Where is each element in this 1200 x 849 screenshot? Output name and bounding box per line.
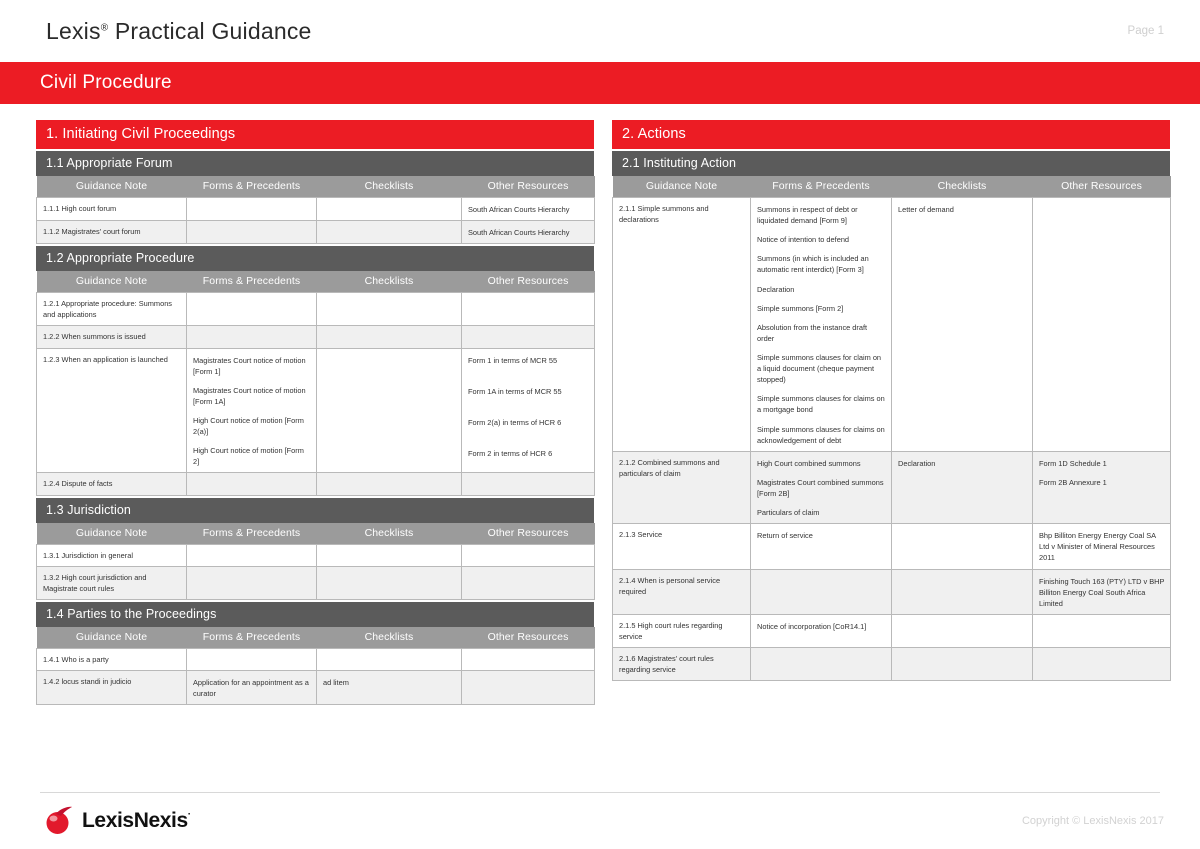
page-number: Page 1 [1128, 25, 1164, 37]
cell-other-resources[interactable] [462, 326, 595, 348]
cell-forms-precedents[interactable] [187, 566, 317, 599]
guidance-table: Guidance NoteForms & PrecedentsChecklist… [36, 627, 595, 705]
forms-precedents-item[interactable]: Absolution from the instance draft order [757, 322, 886, 344]
page-header: Lexis® Practical Guidance Page 1 [0, 0, 1200, 62]
cell-other-resources[interactable] [462, 293, 595, 326]
cell-other-resources[interactable] [462, 566, 595, 599]
forms-precedents-item[interactable]: Magistrates Court notice of motion [Form… [193, 355, 311, 377]
column-header-guidance-note: Guidance Note [37, 271, 187, 293]
other-resources-item[interactable]: Form 1 in terms of MCR 55 [468, 355, 589, 366]
subsection-title: 1.4 Parties to the Proceedings [36, 602, 594, 627]
forms-precedents-cell-content: Summons in respect of debt or liquidated… [757, 204, 886, 446]
other-resources-item[interactable]: Form 2B Annexure 1 [1039, 477, 1165, 488]
column-header-forms-precedents: Forms & Precedents [187, 271, 317, 293]
cell-forms-precedents[interactable] [187, 293, 317, 326]
document-title-bar: Civil Procedure [0, 62, 1200, 104]
cell-forms-precedents[interactable]: Return of service [751, 524, 892, 569]
cell-guidance-note[interactable]: 2.1.4 When is personal service required [613, 569, 751, 614]
column-header-guidance-note: Guidance Note [37, 176, 187, 198]
forms-precedents-cell-content: Return of service [757, 530, 886, 541]
cell-other-resources[interactable] [462, 670, 595, 704]
column-header-other-resources: Other Resources [462, 627, 595, 649]
forms-precedents-cell-content: High Court combined summonsMagistrates C… [757, 458, 886, 518]
other-resources-cell-content: Form 1D Schedule 1Form 2B Annexure 1 [1039, 458, 1165, 488]
cell-checklists[interactable] [317, 293, 462, 326]
other-resources-cell-content: Finishing Touch 163 (PTY) LTD v BHP Bill… [1039, 576, 1165, 609]
cell-guidance-note[interactable]: 1.2.3 When an application is launched [37, 348, 187, 473]
column-right: 2. Actions2.1 Instituting ActionGuidance… [612, 120, 1170, 681]
cell-checklists[interactable] [317, 566, 462, 599]
column-header-guidance-note: Guidance Note [37, 523, 187, 545]
cell-checklists[interactable] [317, 473, 462, 495]
subsection-title: 1.1 Appropriate Forum [36, 151, 594, 176]
forms-precedents-cell-content: Application for an appointment as a cura… [193, 677, 311, 699]
cell-forms-precedents[interactable] [187, 221, 317, 244]
table-row[interactable]: 2.1.4 When is personal service requiredF… [613, 569, 1171, 614]
cell-guidance-note[interactable]: 2.1.3 Service [613, 524, 751, 569]
guidance-note-link[interactable]: 1.2.3 When an application is launched [43, 355, 168, 364]
column-header-checklists: Checklists [317, 176, 462, 198]
column-header-forms-precedents: Forms & Precedents [187, 523, 317, 545]
forms-precedents-item[interactable]: Simple summons clauses for claims on a m… [757, 393, 886, 415]
other-resources-item[interactable]: South African Courts Hierarchy [468, 204, 589, 215]
forms-precedents-item[interactable]: Summons (in which is included an automat… [757, 253, 886, 275]
logo-trademark: · [188, 809, 191, 820]
cell-other-resources[interactable]: South African Courts Hierarchy [462, 221, 595, 244]
lexisnexis-logo: LexisNexis· [44, 806, 191, 836]
cell-forms-precedents[interactable] [187, 544, 317, 566]
lexisnexis-mark-icon [44, 806, 74, 836]
table-row[interactable]: 2.1.3 ServiceReturn of serviceBhp Billit… [613, 524, 1171, 569]
subsection-title: 1.3 Jurisdiction [36, 498, 594, 523]
checklists-cell-content: ad litem [323, 677, 456, 688]
lexisnexis-wordmark: LexisNexis· [82, 809, 191, 833]
cell-forms-precedents[interactable] [751, 569, 892, 614]
cell-checklists[interactable] [317, 544, 462, 566]
subsection: 1.2 Appropriate ProcedureGuidance NoteFo… [36, 246, 594, 495]
guidance-note-link[interactable]: 1.2.1 Appropriate procedure: Summons and… [43, 299, 172, 319]
cell-forms-precedents[interactable]: Magistrates Court notice of motion [Form… [187, 348, 317, 473]
forms-precedents-cell-content: Notice of incorporation [CoR14.1] [757, 621, 886, 632]
cell-forms-precedents[interactable]: Application for an appointment as a cura… [187, 670, 317, 704]
cell-guidance-note[interactable]: 2.1.5 High court rules regarding service [613, 614, 751, 647]
column-header-guidance-note: Guidance Note [37, 627, 187, 649]
cell-checklists[interactable] [892, 569, 1033, 614]
forms-precedents-item[interactable]: High Court combined summons [757, 458, 886, 469]
checklists-cell-content: Letter of demand [898, 204, 1027, 215]
column-header-forms-precedents: Forms & Precedents [187, 176, 317, 198]
column-header-other-resources: Other Resources [462, 523, 595, 545]
table-row[interactable]: 1.2.4 Dispute of facts [37, 473, 595, 495]
subsection: 1.3 JurisdictionGuidance NoteForms & Pre… [36, 498, 594, 600]
guidance-table: Guidance NoteForms & PrecedentsChecklist… [36, 271, 595, 495]
cell-other-resources[interactable]: Bhp Billiton Energy Energy Coal SA Ltd v… [1033, 524, 1171, 569]
guidance-note-link[interactable]: 1.4.1 Who is a party [43, 655, 109, 664]
forms-precedents-item[interactable]: High Court notice of motion [Form 2] [193, 445, 311, 467]
cell-checklists[interactable] [892, 524, 1033, 569]
cell-checklists[interactable] [317, 326, 462, 348]
guidance-note-link[interactable]: 1.3.2 High court jurisdiction and Magist… [43, 573, 147, 593]
forms-precedents-item[interactable]: Particulars of claim [757, 507, 886, 518]
guidance-note-link[interactable]: 2.1.6 Magistrates' court rules regarding… [619, 654, 714, 674]
cell-checklists[interactable]: Declaration [892, 451, 1033, 523]
table-row[interactable]: 1.3.2 High court jurisdiction and Magist… [37, 566, 595, 599]
cell-guidance-note[interactable]: 1.2.1 Appropriate procedure: Summons and… [37, 293, 187, 326]
guidance-table: Guidance NoteForms & PrecedentsChecklist… [36, 523, 595, 600]
guidance-note-link[interactable]: 2.1.5 High court rules regarding service [619, 621, 723, 641]
cell-forms-precedents[interactable]: Summons in respect of debt or liquidated… [751, 198, 892, 452]
table-row[interactable]: 1.2.3 When an application is launchedMag… [37, 348, 595, 473]
cell-forms-precedents[interactable]: Notice of incorporation [CoR14.1] [751, 614, 892, 647]
subsection: 1.4 Parties to the ProceedingsGuidance N… [36, 602, 594, 705]
cell-guidance-note[interactable]: 1.1.2 Magistrates' court forum [37, 221, 187, 244]
cell-checklists[interactable]: ad litem [317, 670, 462, 704]
column-header-checklists: Checklists [317, 627, 462, 649]
table-header-row: Guidance NoteForms & PrecedentsChecklist… [37, 271, 595, 293]
cell-checklists[interactable] [892, 614, 1033, 647]
guidance-note-link[interactable]: 2.1.3 Service [619, 530, 662, 539]
subsection-title: 2.1 Instituting Action [612, 151, 1170, 176]
column-header-guidance-note: Guidance Note [613, 176, 751, 198]
forms-precedents-item[interactable]: Magistrates Court combined summons [Form… [757, 477, 886, 499]
section-title-right: 2. Actions [612, 120, 1170, 149]
other-resources-item[interactable]: Form 2 in terms of HCR 6 [468, 448, 589, 459]
guidance-note-link[interactable]: 1.1.2 Magistrates' court forum [43, 227, 141, 236]
forms-precedents-item[interactable]: Notice of intention to defend [757, 234, 886, 245]
column-header-other-resources: Other Resources [462, 271, 595, 293]
cell-other-resources[interactable] [462, 648, 595, 670]
cell-guidance-note[interactable]: 2.1.1 Simple summons and declarations [613, 198, 751, 452]
forms-precedents-item[interactable]: Simple summons clauses for claim on a li… [757, 352, 886, 385]
forms-precedents-item[interactable]: Application for an appointment as a cura… [193, 677, 311, 699]
other-resources-cell-content: South African Courts Hierarchy [468, 227, 589, 238]
column-left: 1. Initiating Civil Proceedings1.1 Appro… [36, 120, 594, 705]
cell-forms-precedents[interactable]: High Court combined summonsMagistrates C… [751, 451, 892, 523]
cell-other-resources[interactable]: Form 1D Schedule 1Form 2B Annexure 1 [1033, 451, 1171, 523]
cell-guidance-note[interactable]: 1.2.2 When summons is issued [37, 326, 187, 348]
forms-precedents-item[interactable]: Notice of incorporation [CoR14.1] [757, 621, 886, 632]
forms-precedents-item[interactable]: Return of service [757, 530, 886, 541]
table-row[interactable]: 1.1.2 Magistrates' court forumSouth Afri… [37, 221, 595, 244]
cell-guidance-note[interactable]: 1.4.2 locus standi in judicio [37, 670, 187, 704]
brand-name: Lexis [46, 18, 101, 44]
cell-guidance-note[interactable]: 1.2.4 Dispute of facts [37, 473, 187, 495]
guidance-note-link[interactable]: 2.1.1 Simple summons and declarations [619, 204, 709, 224]
section-title-left: 1. Initiating Civil Proceedings [36, 120, 594, 149]
forms-precedents-item[interactable]: Magistrates Court notice of motion [Form… [193, 385, 311, 407]
column-header-forms-precedents: Forms & Precedents [751, 176, 892, 198]
subsection: 1.1 Appropriate ForumGuidance NoteForms … [36, 151, 594, 244]
cell-forms-precedents[interactable] [187, 326, 317, 348]
cell-other-resources[interactable]: Form 1 in terms of MCR 55Form 1A in term… [462, 348, 595, 473]
cell-guidance-note[interactable]: 1.3.2 High court jurisdiction and Magist… [37, 566, 187, 599]
other-resources-item[interactable]: Bhp Billiton Energy Energy Coal SA Ltd v… [1039, 530, 1165, 563]
brand-title: Lexis® Practical Guidance [46, 18, 312, 45]
cell-other-resources[interactable] [1033, 648, 1171, 681]
table-header-row: Guidance NoteForms & PrecedentsChecklist… [37, 627, 595, 649]
guidance-note-link[interactable]: 1.1.1 High court forum [43, 204, 116, 213]
column-header-forms-precedents: Forms & Precedents [187, 627, 317, 649]
table-header-row: Guidance NoteForms & PrecedentsChecklist… [37, 523, 595, 545]
forms-precedents-item[interactable]: Declaration [757, 284, 886, 295]
cell-other-resources[interactable] [1033, 198, 1171, 452]
cell-checklists[interactable] [317, 348, 462, 473]
table-row[interactable]: 1.1.1 High court forumSouth African Cour… [37, 198, 595, 221]
cell-checklists[interactable] [317, 221, 462, 244]
table-header-row: Guidance NoteForms & PrecedentsChecklist… [613, 176, 1171, 198]
cell-checklists[interactable]: Letter of demand [892, 198, 1033, 452]
checklists-cell-content: Declaration [898, 458, 1027, 469]
column-header-checklists: Checklists [892, 176, 1033, 198]
forms-precedents-item[interactable]: High Court notice of motion [Form 2(a)] [193, 415, 311, 437]
forms-precedents-item[interactable]: Simple summons [Form 2] [757, 303, 886, 314]
other-resources-item[interactable]: Form 2(a) in terms of HCR 6 [468, 417, 589, 428]
forms-precedents-cell-content: Magistrates Court notice of motion [Form… [193, 355, 311, 468]
page-title: Civil Procedure [40, 72, 172, 94]
guidance-note-link[interactable]: 1.4.2 locus standi in judicio [43, 677, 131, 686]
table-row[interactable]: 1.4.1 Who is a party [37, 648, 595, 670]
checklists-item[interactable]: Letter of demand [898, 204, 1027, 215]
table-row[interactable]: 1.2.2 When summons is issued [37, 326, 595, 348]
column-header-other-resources: Other Resources [462, 176, 595, 198]
guidance-note-link[interactable]: 2.1.2 Combined summons and particulars o… [619, 458, 720, 478]
checklists-item[interactable]: Declaration [898, 458, 1027, 469]
column-header-checklists: Checklists [317, 523, 462, 545]
subsection: 2.1 Instituting ActionGuidance NoteForms… [612, 151, 1170, 681]
cell-forms-precedents[interactable] [187, 198, 317, 221]
table-row[interactable]: 1.2.1 Appropriate procedure: Summons and… [37, 293, 595, 326]
cell-guidance-note[interactable]: 1.3.1 Jurisdiction in general [37, 544, 187, 566]
table-row[interactable]: 2.1.1 Simple summons and declarationsSum… [613, 198, 1171, 452]
cell-checklists[interactable] [892, 648, 1033, 681]
cell-forms-precedents[interactable] [187, 473, 317, 495]
column-header-other-resources: Other Resources [1033, 176, 1171, 198]
guidance-note-link[interactable]: 1.2.4 Dispute of facts [43, 479, 112, 488]
column-header-checklists: Checklists [317, 271, 462, 293]
other-resources-item[interactable]: South African Courts Hierarchy [468, 227, 589, 238]
table-header-row: Guidance NoteForms & PrecedentsChecklist… [37, 176, 595, 198]
cell-guidance-note[interactable]: 2.1.2 Combined summons and particulars o… [613, 451, 751, 523]
subsection-title: 1.2 Appropriate Procedure [36, 246, 594, 271]
cell-forms-precedents[interactable] [187, 648, 317, 670]
cell-guidance-note[interactable]: 2.1.6 Magistrates' court rules regarding… [613, 648, 751, 681]
cell-other-resources[interactable] [462, 544, 595, 566]
guidance-note-link[interactable]: 1.2.2 When summons is issued [43, 332, 146, 341]
cell-other-resources[interactable] [1033, 614, 1171, 647]
copyright-text: Copyright © LexisNexis 2017 [1022, 815, 1164, 827]
forms-precedents-item[interactable]: Simple summons clauses for claims on ack… [757, 424, 886, 446]
checklists-item[interactable]: ad litem [323, 677, 456, 688]
content-area: 1. Initiating Civil Proceedings1.1 Appro… [0, 104, 1200, 705]
cell-other-resources[interactable]: Finishing Touch 163 (PTY) LTD v BHP Bill… [1033, 569, 1171, 614]
table-row[interactable]: 2.1.5 High court rules regarding service… [613, 614, 1171, 647]
cell-forms-precedents[interactable] [751, 648, 892, 681]
cell-checklists[interactable] [317, 198, 462, 221]
table-row[interactable]: 1.4.2 locus standi in judicioApplication… [37, 670, 595, 704]
table-row[interactable]: 1.3.1 Jurisdiction in general [37, 544, 595, 566]
table-row[interactable]: 2.1.2 Combined summons and particulars o… [613, 451, 1171, 523]
cell-other-resources[interactable] [462, 473, 595, 495]
other-resources-item[interactable]: Form 1D Schedule 1 [1039, 458, 1165, 469]
brand-suffix: Practical Guidance [108, 18, 311, 44]
table-row[interactable]: 2.1.6 Magistrates' court rules regarding… [613, 648, 1171, 681]
guidance-note-link[interactable]: 2.1.4 When is personal service required [619, 576, 720, 596]
forms-precedents-item[interactable]: Summons in respect of debt or liquidated… [757, 204, 886, 226]
guidance-note-link[interactable]: 1.3.1 Jurisdiction in general [43, 551, 133, 560]
cell-checklists[interactable] [317, 648, 462, 670]
cell-guidance-note[interactable]: 1.4.1 Who is a party [37, 648, 187, 670]
other-resources-cell-content: South African Courts Hierarchy [468, 204, 589, 215]
other-resources-cell-content: Form 1 in terms of MCR 55Form 1A in term… [468, 355, 589, 459]
guidance-table: Guidance NoteForms & PrecedentsChecklist… [36, 176, 595, 244]
cell-other-resources[interactable]: South African Courts Hierarchy [462, 198, 595, 221]
other-resources-cell-content: Bhp Billiton Energy Energy Coal SA Ltd v… [1039, 530, 1165, 563]
other-resources-item[interactable]: Finishing Touch 163 (PTY) LTD v BHP Bill… [1039, 576, 1165, 609]
other-resources-item[interactable]: Form 1A in terms of MCR 55 [468, 386, 589, 397]
cell-guidance-note[interactable]: 1.1.1 High court forum [37, 198, 187, 221]
guidance-table: Guidance NoteForms & PrecedentsChecklist… [612, 176, 1171, 681]
page-footer: LexisNexis· Copyright © LexisNexis 2017 [0, 792, 1200, 849]
